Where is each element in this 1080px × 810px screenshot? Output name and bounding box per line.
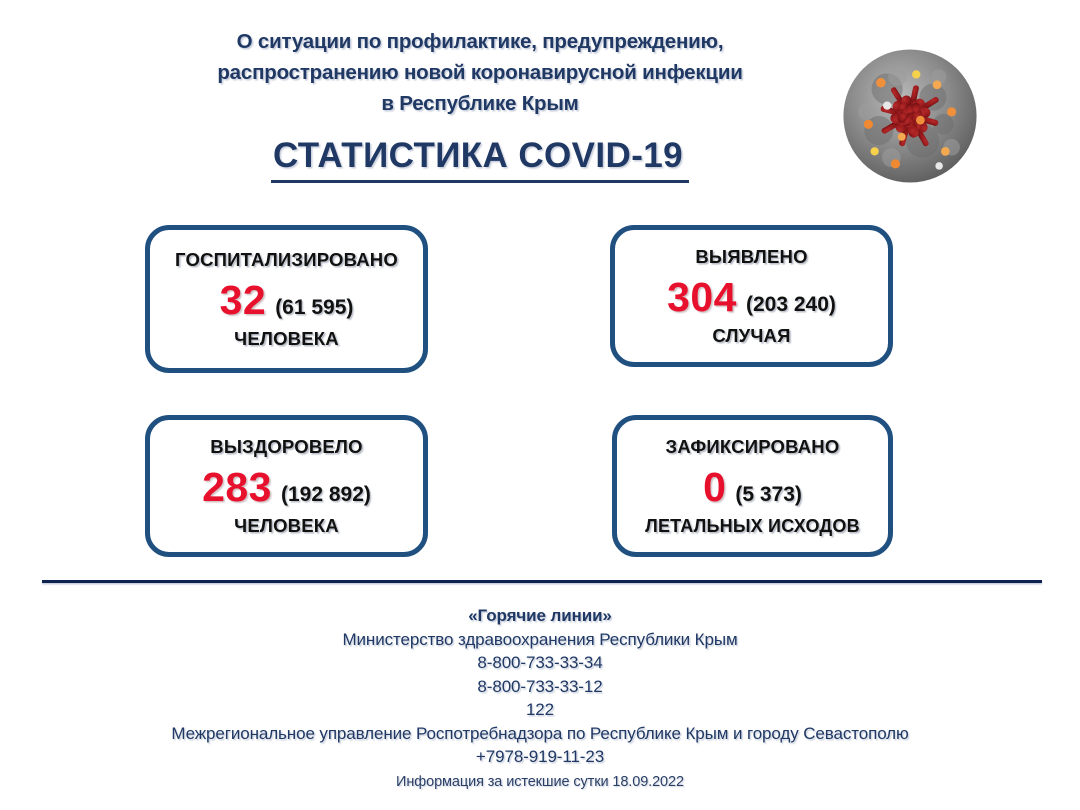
stat-card-detected: ВЫЯВЛЕНО 304 (203 240) СЛУЧАЯ xyxy=(610,225,893,367)
page-title: СТАТИСТИКА COVID-19 xyxy=(271,134,689,183)
hotline-phone-3[interactable]: 122 xyxy=(40,698,1040,722)
stat-value-daily: 0 xyxy=(703,465,726,509)
stat-label: ВЫЯВЛЕНО xyxy=(695,245,807,269)
stat-value-daily: 283 xyxy=(202,465,272,509)
stat-value-total: (203 240) xyxy=(746,292,836,318)
hotline-phone-2[interactable]: 8-800-733-33-12 xyxy=(40,675,1040,699)
infographic-page: О ситуации по профилактике, предупрежден… xyxy=(0,0,1080,810)
stat-value-row: 32 (61 595) xyxy=(220,278,354,322)
stat-unit: ЧЕЛОВЕКА xyxy=(234,327,339,351)
rospotrebnadzor-name: Межрегиональное управление Роспотребнадз… xyxy=(40,722,1040,746)
hotlines-title: «Горячие линии» xyxy=(40,604,1040,628)
hotline-phone-1[interactable]: 8-800-733-33-34 xyxy=(40,651,1040,675)
info-date-note: Информация за истекшие сутки 18.09.2022 xyxy=(40,771,1040,793)
stat-value-row: 283 (192 892) xyxy=(202,465,371,509)
header-line-1: О ситуации по профилактике, предупрежден… xyxy=(150,26,810,57)
stat-value-total: (192 892) xyxy=(281,482,371,508)
stat-card-recovered: ВЫЗДОРОВЕЛО 283 (192 892) ЧЕЛОВЕКА xyxy=(145,415,428,557)
header-block: О ситуации по профилактике, предупрежден… xyxy=(150,26,810,119)
stat-card-hospitalized: ГОСПИТАЛИЗИРОВАНО 32 (61 595) ЧЕЛОВЕКА xyxy=(145,225,428,373)
stat-unit: ЛЕТАЛЬНЫХ ИСХОДОВ xyxy=(645,514,860,538)
stat-unit: ЧЕЛОВЕКА xyxy=(234,514,339,538)
stat-value-total: (61 595) xyxy=(275,295,353,321)
ministry-name: Министерство здравоохранения Республики … xyxy=(40,628,1040,652)
header-line-2: распространению новой коронавирусной инф… xyxy=(150,57,810,88)
stat-label: ЗАФИКСИРОВАНО xyxy=(666,435,840,459)
footer-block: «Горячие линии» Министерство здравоохран… xyxy=(40,604,1040,793)
stat-value-daily: 304 xyxy=(667,275,737,319)
stat-value-total: (5 373) xyxy=(735,482,802,508)
stat-card-deaths: ЗАФИКСИРОВАНО 0 (5 373) ЛЕТАЛЬНЫХ ИСХОДО… xyxy=(612,415,893,557)
page-title-wrap: СТАТИСТИКА COVID-19 xyxy=(150,134,810,183)
stat-label: ВЫЗДОРОВЕЛО xyxy=(210,435,362,459)
hotline-phone-4[interactable]: +7978-919-11-23 xyxy=(40,745,1040,769)
section-divider xyxy=(42,580,1042,583)
stat-value-row: 304 (203 240) xyxy=(667,275,836,319)
stat-value-daily: 32 xyxy=(220,278,267,322)
stat-value-row: 0 (5 373) xyxy=(703,465,802,509)
header-line-3: в Республике Крым xyxy=(150,88,810,119)
coronavirus-icon xyxy=(806,12,1014,220)
stat-label: ГОСПИТАЛИЗИРОВАНО xyxy=(175,248,398,272)
stat-unit: СЛУЧАЯ xyxy=(712,324,790,348)
